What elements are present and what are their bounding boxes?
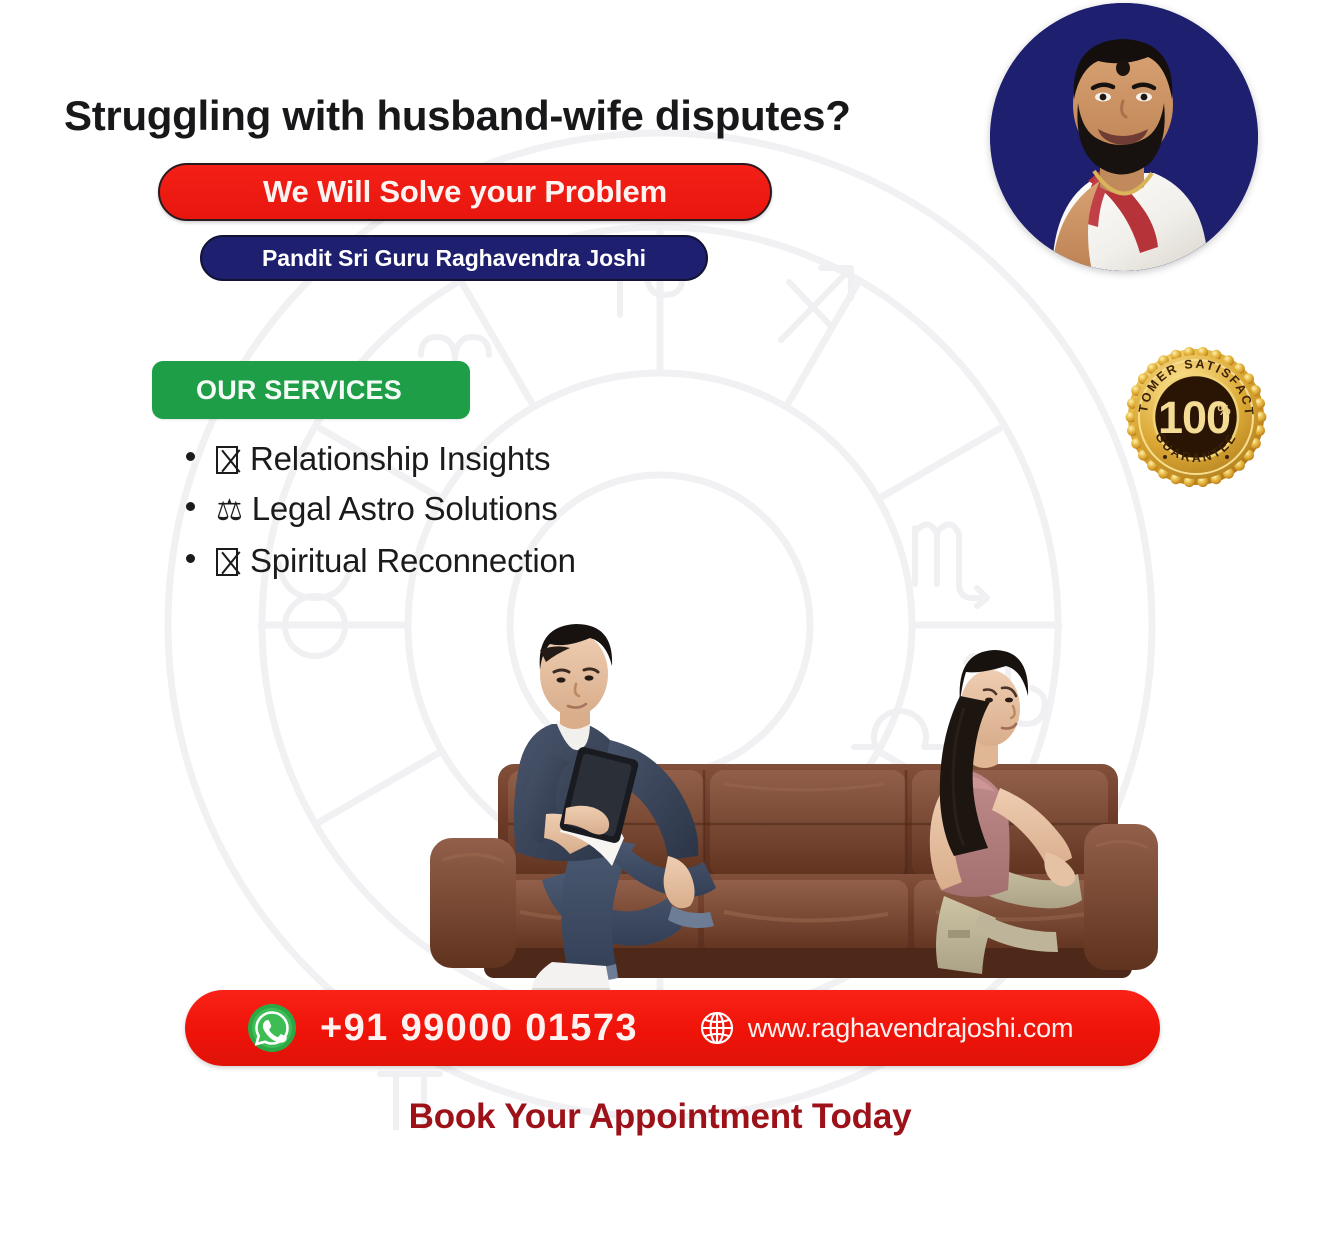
missing-glyph-box-icon xyxy=(216,446,238,474)
services-list: Relationship Insights ⚖ Legal Astro Solu… xyxy=(186,434,576,586)
phone-number[interactable]: +91 99000 01573 xyxy=(320,1007,638,1050)
scales-icon: ⚖ xyxy=(216,486,243,536)
service-label: Legal Astro Solutions xyxy=(252,484,558,534)
page-title: Struggling with husband-wife disputes? xyxy=(64,92,851,140)
practitioner-name-badge: Pandit Sri Guru Raghavendra Joshi xyxy=(200,235,708,281)
practitioner-name-label: Pandit Sri Guru Raghavendra Joshi xyxy=(262,245,646,272)
solve-problem-label: We Will Solve your Problem xyxy=(263,174,667,210)
bullet-dot-icon xyxy=(186,554,195,563)
guarantee-percent: % xyxy=(1217,402,1230,419)
whatsapp-icon[interactable] xyxy=(247,1003,297,1053)
bullet-dot-icon xyxy=(186,452,195,461)
list-item: ⚖ Legal Astro Solutions xyxy=(186,484,576,536)
service-label: Relationship Insights xyxy=(250,434,550,484)
solve-problem-badge: We Will Solve your Problem xyxy=(158,163,772,221)
service-label: Spiritual Reconnection xyxy=(250,536,576,586)
bullet-dot-icon xyxy=(186,502,195,511)
cta-text: Book Your Appointment Today xyxy=(0,1097,1320,1137)
guarantee-badge: CUSTOMER SATISFACTION GUARANTEE 100 % xyxy=(1124,345,1268,489)
list-item: Relationship Insights xyxy=(186,434,576,484)
contact-bar[interactable]: +91 99000 01573 www.raghavendrajoshi.com xyxy=(185,990,1160,1066)
list-item: Spiritual Reconnection xyxy=(186,536,576,586)
our-services-heading: OUR SERVICES xyxy=(152,361,470,419)
couple-on-sofa-image xyxy=(424,612,1158,1000)
avatar xyxy=(990,3,1258,271)
our-services-label: OUR SERVICES xyxy=(196,375,402,406)
website-url[interactable]: www.raghavendrajoshi.com xyxy=(748,1013,1073,1044)
globe-icon[interactable] xyxy=(700,1011,734,1045)
missing-glyph-box-icon xyxy=(216,548,238,576)
